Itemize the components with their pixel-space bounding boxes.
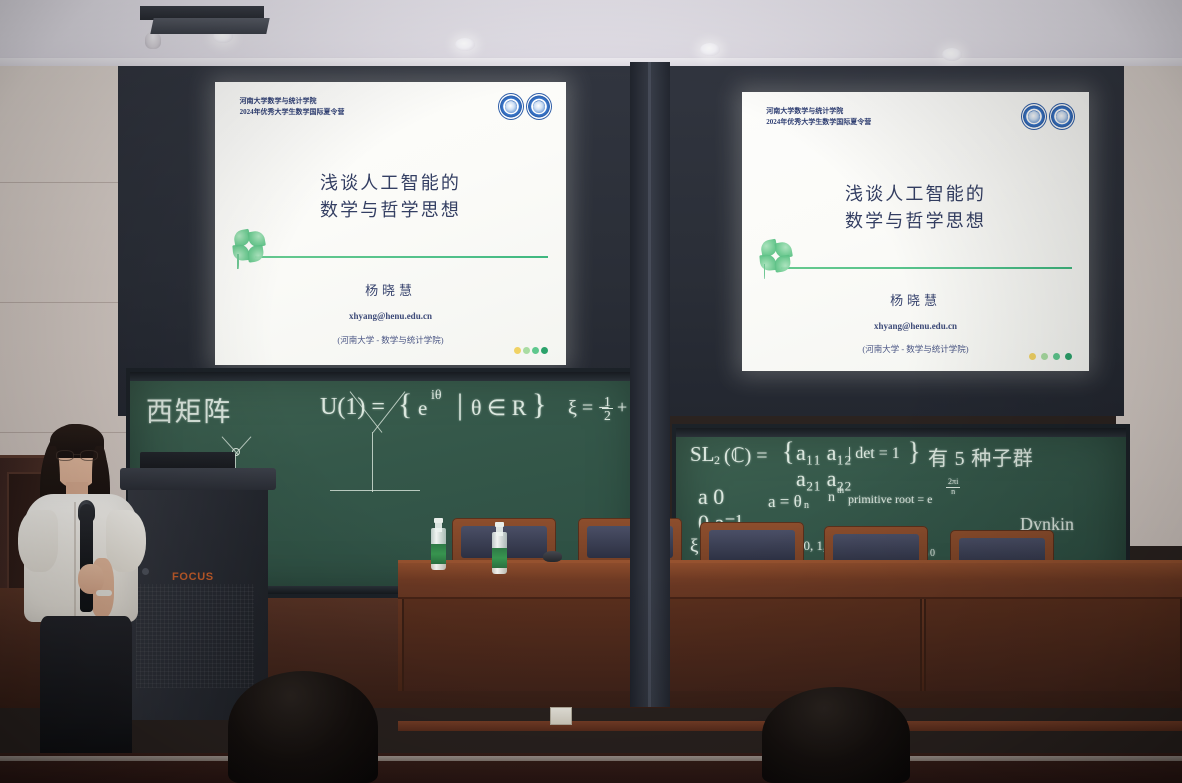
chalk-chinese-note: 有 5 种子群: [928, 442, 1034, 471]
lecture-hall-scene: 河南大学数学与统计学院 2024年优秀大学生数学国际夏令营 浅谈人工智能的 数学…: [0, 0, 1182, 783]
matrix-row: a 0: [698, 484, 742, 510]
lectern-shelf: [150, 18, 269, 34]
audience-member-head: [762, 687, 910, 783]
downlight-icon: [455, 38, 475, 51]
desk-front-panel: [402, 599, 654, 691]
computer-mouse[interactable]: [543, 551, 562, 562]
chalk-brace-close: }: [908, 437, 920, 467]
panel-desk: [398, 560, 1182, 691]
slide-header: 河南大学数学与统计学院 2024年优秀大学生数学国际夏令营: [240, 96, 345, 118]
chalk-root-superscript: th: [837, 485, 844, 495]
projection-screen-left: 河南大学数学与统计学院 2024年优秀大学生数学国际夏令营 浅谈人工智能的 数学…: [215, 82, 566, 365]
slide-affiliation: (河南大学 - 数学与统计学院): [215, 334, 566, 346]
clover-icon: [233, 229, 267, 263]
chalk-alpha-equation: a = θ: [768, 492, 802, 512]
slide-progress-dots: [514, 347, 548, 354]
slide-header-line-2: 2024年优秀大学生数学国际夏令营: [766, 117, 871, 128]
presenter-skirt: [40, 616, 132, 766]
chalk-group-label: SL: [690, 442, 715, 467]
progress-dot: [1041, 353, 1048, 360]
matrix-row: a₁₁ a₁₂: [796, 440, 852, 466]
chalk-text-theta-in-r: θ ∈ R: [471, 395, 526, 421]
chalk-brace-open: {: [398, 388, 412, 422]
henu-emblem-icon: [498, 93, 524, 120]
university-emblems: [498, 93, 552, 120]
chalk-brace-close: }: [532, 388, 546, 422]
presenter-sleeve: [106, 510, 146, 572]
downlight-icon: [700, 43, 720, 56]
chalk-root-text: primitive root = e: [848, 492, 932, 507]
progress-dot: [1029, 353, 1036, 360]
water-bottle[interactable]: [492, 522, 507, 574]
slide-content-right: 河南大学数学与统计学院 2024年优秀大学生数学国际夏令营 浅谈人工智能的 数学…: [742, 92, 1089, 371]
downlight-icon: [942, 48, 962, 61]
chalk-group-subscript: 2: [714, 453, 720, 468]
chalk-alpha-subscript: n: [804, 500, 809, 511]
slide-header-line-1: 河南大学数学与统计学院: [766, 106, 871, 117]
slide-title-line-1: 浅谈人工智能的: [742, 181, 1089, 208]
chalk-xi-zero-subscript: 0: [930, 548, 935, 559]
divider-rule: [781, 267, 1071, 269]
name-card-stand: [550, 707, 572, 725]
slide-email: xhyang@henu.edu.cn: [215, 311, 566, 321]
chalk-xi-frac-half: 12: [602, 394, 613, 423]
school-emblem-icon: [1049, 103, 1075, 130]
microphone-body[interactable]: [80, 504, 93, 612]
smoke-detector-icon: [145, 32, 161, 49]
progress-dot: [541, 347, 548, 354]
slide-title: 浅谈人工智能的 数学与哲学思想: [215, 170, 566, 224]
glasses-icon: [56, 450, 98, 460]
desk-front-panel: [656, 599, 922, 691]
chalk-diagram-triangle: [320, 432, 430, 498]
slide-title-line-1: 浅谈人工智能的: [215, 170, 566, 197]
slide-author: 杨晓慧: [215, 280, 566, 299]
blouse-placket: [74, 502, 76, 618]
frac-denominator: n: [946, 488, 960, 496]
lectern-speaker-grille: [136, 584, 254, 688]
chalk-brace-open: {: [782, 437, 794, 467]
slide-header-line-1: 河南大学数学与统计学院: [240, 96, 345, 107]
chalk-text-ximatrix: 西矩阵: [146, 390, 232, 429]
center-pillar: [630, 62, 670, 707]
progress-dot: [532, 347, 539, 354]
clover-divider: [759, 254, 1071, 280]
henu-emblem-icon: [1021, 103, 1047, 130]
university-emblems: [1021, 103, 1075, 130]
speaker-lectern[interactable]: FOCUS: [128, 468, 268, 720]
slide-title-line-2: 数学与哲学思想: [742, 208, 1089, 235]
slide-email: xhyang@henu.edu.cn: [742, 321, 1089, 331]
presenter-sleeve: [18, 510, 58, 572]
desk-front-panel: [924, 599, 1182, 691]
divider-rule: [255, 256, 549, 258]
wristwatch-icon: [96, 590, 112, 596]
chalk-group-field: (ℂ) =: [724, 443, 768, 468]
presenter: [18, 418, 148, 783]
progress-dot: [523, 347, 530, 354]
chalk-text-u1: U(1) =: [320, 394, 385, 421]
slide-title: 浅谈人工智能的 数学与哲学思想: [742, 181, 1089, 235]
slide-header: 河南大学数学与统计学院 2024年优秀大学生数学国际夏令营: [766, 106, 871, 128]
slide-header-line-2: 2024年优秀大学生数学国际夏令营: [240, 107, 345, 118]
audience-member-head: [228, 671, 378, 783]
chalk-root-n: n: [828, 490, 835, 506]
chalk-determinant-condition: | det = 1: [848, 445, 900, 463]
progress-dot: [514, 347, 521, 354]
water-bottle[interactable]: [431, 518, 446, 570]
slide-title-line-2: 数学与哲学思想: [215, 197, 566, 224]
progress-dot: [1065, 353, 1072, 360]
chalk-exp-base: e: [418, 396, 427, 421]
frac-denominator: 2: [602, 409, 613, 423]
floor-trim: [0, 756, 1182, 761]
chalk-pipe: |: [457, 388, 463, 422]
slide-content-left: 河南大学数学与统计学院 2024年优秀大学生数学国际夏令营 浅谈人工智能的 数学…: [215, 82, 566, 365]
slide-progress-dots: [1029, 353, 1071, 360]
desk-surface: [398, 563, 1182, 580]
clover-icon: [759, 240, 793, 274]
progress-dot: [1053, 353, 1060, 360]
slide-author: 杨晓慧: [742, 290, 1089, 309]
chalk-xi-plus: +: [617, 397, 627, 418]
chalk-root-exponent: 2πin: [946, 478, 960, 496]
projection-screen-right: 河南大学数学与统计学院 2024年优秀大学生数学国际夏令营 浅谈人工智能的 数学…: [742, 92, 1089, 371]
chalk-exp-power: iθ: [431, 388, 442, 404]
chalk-xi-k: ξ: [690, 536, 698, 558]
lectern-brand-label: FOCUS: [172, 571, 214, 583]
school-emblem-icon: [526, 93, 552, 120]
clover-divider: [233, 243, 549, 269]
